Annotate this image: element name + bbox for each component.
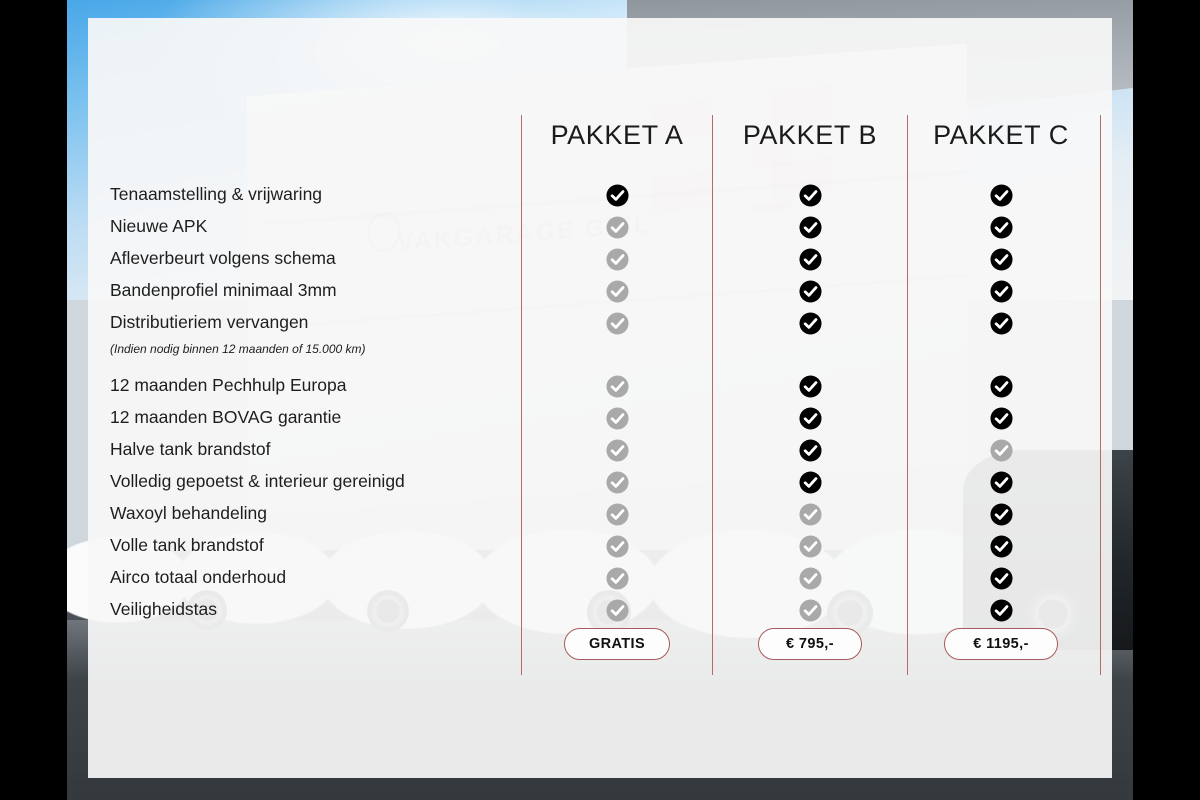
check-g2-6-b <box>799 567 822 590</box>
check-g1-0-b <box>799 184 822 207</box>
check-g2-2-b <box>799 439 822 462</box>
feature-note-distributieriem: (Indien nodig binnen 12 maanden of 15.00… <box>110 342 366 356</box>
check-g2-4-c <box>990 503 1013 526</box>
column-header-b: PAKKET B <box>700 120 920 151</box>
price-pill-b[interactable]: € 795,- <box>758 628 862 660</box>
feature-label-g2-1: 12 maanden BOVAG garantie <box>110 409 341 427</box>
check-g2-6-c <box>990 567 1013 590</box>
check-g2-5-c <box>990 535 1013 558</box>
column-divider-3 <box>1100 115 1101 675</box>
check-g1-3-b <box>799 280 822 303</box>
screenshot-root: VAKGARAGE GIEL PAKKET APAKKET BPAKKET CT… <box>0 0 1200 800</box>
check-g2-2-c <box>990 439 1013 462</box>
price-pill-a[interactable]: GRATIS <box>564 628 670 660</box>
check-g2-1-c <box>990 407 1013 430</box>
feature-label-g1-0: Tenaamstelling & vrijwaring <box>110 186 322 204</box>
check-g2-3-b <box>799 471 822 494</box>
feature-label-g2-0: 12 maanden Pechhulp Europa <box>110 377 346 395</box>
column-divider-0 <box>521 115 522 675</box>
check-g2-5-a <box>606 535 629 558</box>
check-g1-2-c <box>990 248 1013 271</box>
check-g2-5-b <box>799 535 822 558</box>
column-divider-1 <box>712 115 713 675</box>
check-g2-2-a <box>606 439 629 462</box>
feature-label-g2-6: Airco totaal onderhoud <box>110 569 286 587</box>
column-header-c: PAKKET C <box>891 120 1111 151</box>
feature-label-g1-2: Afleverbeurt volgens schema <box>110 250 336 268</box>
feature-label-g1-3: Bandenprofiel minimaal 3mm <box>110 282 337 300</box>
check-g2-7-c <box>990 599 1013 622</box>
check-g1-0-a <box>606 184 629 207</box>
check-g2-7-b <box>799 599 822 622</box>
check-g1-1-a <box>606 216 629 239</box>
column-header-a: PAKKET A <box>507 120 727 151</box>
pricing-card: PAKKET APAKKET BPAKKET CTenaamstelling &… <box>88 18 1112 778</box>
check-g1-2-b <box>799 248 822 271</box>
check-g2-4-a <box>606 503 629 526</box>
check-g2-0-b <box>799 375 822 398</box>
feature-label-g1-4: Distributieriem vervangen <box>110 314 308 332</box>
feature-label-g2-4: Waxoyl behandeling <box>110 505 267 523</box>
feature-label-g2-3: Volledig gepoetst & interieur gereinigd <box>110 473 405 491</box>
check-g1-2-a <box>606 248 629 271</box>
check-g1-1-c <box>990 216 1013 239</box>
check-g2-6-a <box>606 567 629 590</box>
check-g1-3-c <box>990 280 1013 303</box>
column-divider-2 <box>907 115 908 675</box>
check-g1-4-a <box>606 312 629 335</box>
feature-label-g2-7: Veiligheidstas <box>110 601 217 619</box>
check-g2-1-b <box>799 407 822 430</box>
check-g2-3-c <box>990 471 1013 494</box>
check-g1-0-c <box>990 184 1013 207</box>
check-g1-4-b <box>799 312 822 335</box>
check-g2-0-a <box>606 375 629 398</box>
check-g1-4-c <box>990 312 1013 335</box>
feature-label-g2-5: Volle tank brandstof <box>110 537 264 555</box>
check-g2-7-a <box>606 599 629 622</box>
feature-label-g1-1: Nieuwe APK <box>110 218 207 236</box>
check-g2-4-b <box>799 503 822 526</box>
check-g2-1-a <box>606 407 629 430</box>
feature-label-g2-2: Halve tank brandstof <box>110 441 271 459</box>
check-g1-3-a <box>606 280 629 303</box>
check-g1-1-b <box>799 216 822 239</box>
package-comparison-table: PAKKET APAKKET BPAKKET CTenaamstelling &… <box>88 18 1112 778</box>
check-g2-3-a <box>606 471 629 494</box>
check-g2-0-c <box>990 375 1013 398</box>
price-pill-c[interactable]: € 1195,- <box>944 628 1058 660</box>
